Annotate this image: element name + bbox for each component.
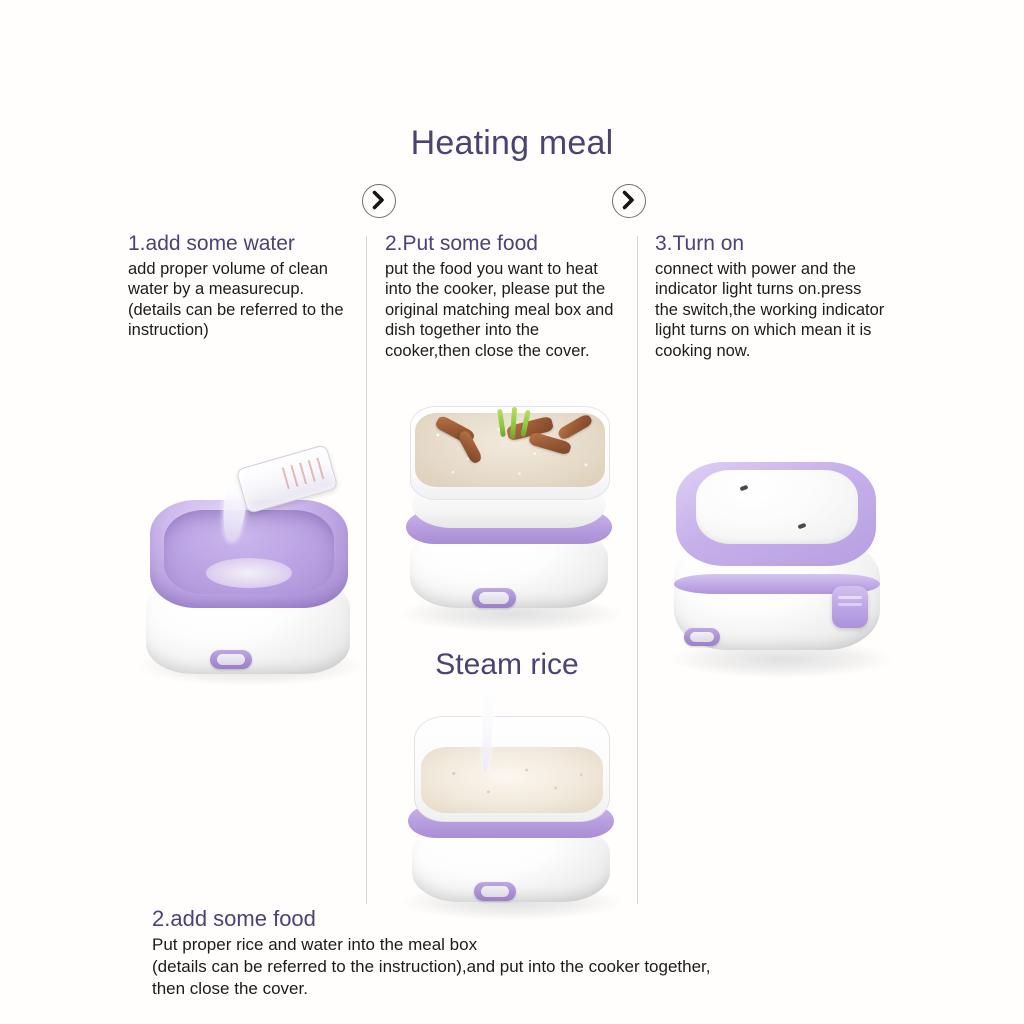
bottom-heading: 2.add some food [152,906,912,932]
rice-layer [421,747,603,813]
step-1-body: add proper volume of clean water by a me… [128,259,346,341]
step-2-body: put the food you want to heat into the c… [385,259,625,361]
bowl-floor [206,558,292,588]
product-photo-add-water [128,462,374,692]
step-2-heading: 2.Put some food [385,232,625,257]
switch-inner [690,632,714,642]
step-column-2: 2.Put some food put the food you want to… [385,232,625,361]
step-column-3: 3.Turn on connect with power and the ind… [655,232,887,361]
bottom-body-line-3: then close the cover. [152,978,912,1000]
switch-inner [481,886,510,897]
measuring-cup-graduations [282,456,328,489]
meal-box-with-rice [414,716,610,822]
bottom-body-line-2: (details can be referred to the instruct… [152,956,912,978]
chevron-right-icon [362,184,396,218]
power-switch [210,650,252,669]
bottom-body-line-1: Put proper rice and water into the meal … [152,934,912,956]
product-photo-put-food [386,400,636,632]
power-switch [684,628,720,646]
product-photo-steam-rice [390,692,634,918]
step-1-heading: 1.add some water [128,232,346,257]
meal-box-with-food [410,406,610,500]
side-latch-clip [832,586,868,628]
page-title: Heating meal [0,124,1024,163]
step-3-heading: 3.Turn on [655,232,887,257]
switch-inner [217,654,246,665]
steam-rice-instructions: 2.add some food Put proper rice and wate… [152,906,912,999]
column-divider-right [637,236,638,904]
power-switch [472,588,516,608]
steam-rice-title: Steam rice [382,648,632,682]
purple-inner-bowl [150,500,348,608]
switch-inner [479,592,509,603]
power-switch [474,882,516,901]
chevron-right-icon [612,184,646,218]
product-photo-turn-on [656,442,906,680]
step-3-body: connect with power and the indicator lig… [655,259,887,361]
step-column-1: 1.add some water add proper volume of cl… [128,232,346,341]
lid-top-surface [696,470,858,544]
